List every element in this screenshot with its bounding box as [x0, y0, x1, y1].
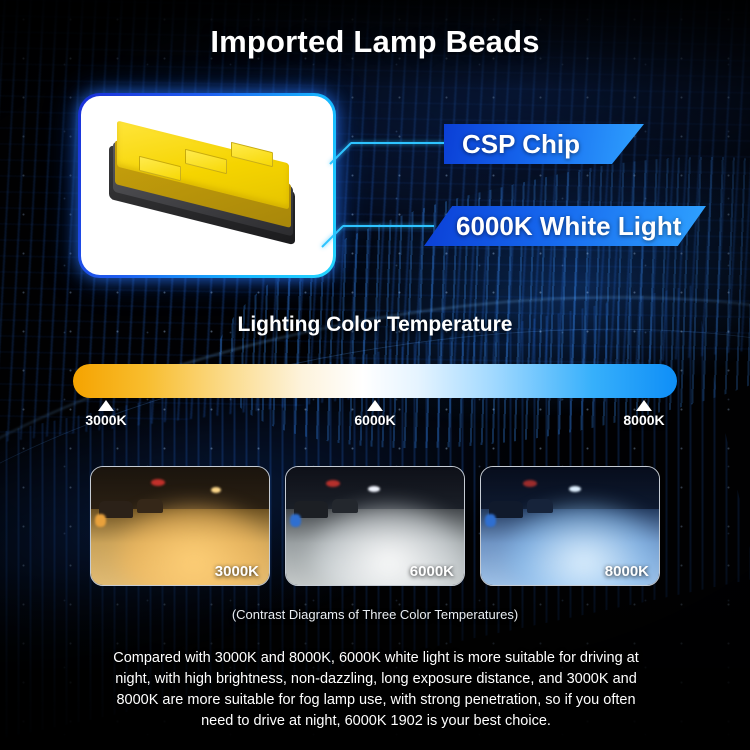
infographic-page: Imported Lamp Beads CSP Chip 6000K W [0, 0, 750, 750]
chip-illustration [81, 96, 333, 275]
photo-row-caption: (Contrast Diagrams of Three Color Temper… [0, 607, 750, 622]
led-chip-3d [105, 134, 315, 252]
tick-arrow-icon [367, 400, 383, 411]
photo-6000k: 6000K [285, 466, 465, 586]
photo-label: 8000K [605, 563, 649, 580]
scene-tail-light [326, 480, 340, 487]
connector-horizontal [351, 142, 450, 144]
tick-label: 8000K [623, 412, 664, 428]
connector-diagonal [321, 225, 344, 248]
connector-diagonal [329, 142, 352, 165]
scene-parked-car [527, 499, 553, 513]
callout-label: CSP Chip [444, 129, 580, 160]
callout-banner-csp-chip: CSP Chip [444, 124, 644, 164]
photo-3000k: 3000K [90, 466, 270, 586]
photo-label: 6000K [410, 563, 454, 580]
scene-lamp-glow [95, 514, 106, 527]
tick-arrow-icon [98, 400, 114, 411]
connector-horizontal [343, 225, 434, 227]
scene-parked-car [137, 499, 163, 513]
color-temperature-gradient-bar [73, 364, 677, 398]
chip-image-card [78, 93, 336, 278]
tick-arrow-icon [636, 400, 652, 411]
photo-label: 3000K [215, 563, 259, 580]
comparison-photo-row: 3000K 6000K [90, 466, 660, 586]
callout-label: 6000K White Light [424, 211, 681, 242]
scene-street-light [211, 487, 221, 493]
tick-label: 6000K [354, 412, 395, 428]
scene-lamp-glow [485, 514, 496, 527]
scene-street-light [368, 486, 380, 492]
scene-parked-car [332, 499, 358, 513]
tick-label: 3000K [85, 412, 126, 428]
scene-lamp-glow [290, 514, 301, 527]
page-title: Imported Lamp Beads [0, 24, 750, 60]
scene-tail-light [523, 480, 537, 487]
scene-tail-light [151, 479, 165, 486]
callout-connector-csp [330, 133, 450, 167]
description-paragraph: Compared with 3000K and 8000K, 6000K whi… [112, 648, 640, 732]
callout-banner-white-light: 6000K White Light [424, 206, 706, 246]
section-heading: Lighting Color Temperature [0, 313, 750, 337]
photo-8000k: 8000K [480, 466, 660, 586]
callout-connector-white-light [322, 216, 434, 250]
scene-street-light [569, 486, 581, 492]
